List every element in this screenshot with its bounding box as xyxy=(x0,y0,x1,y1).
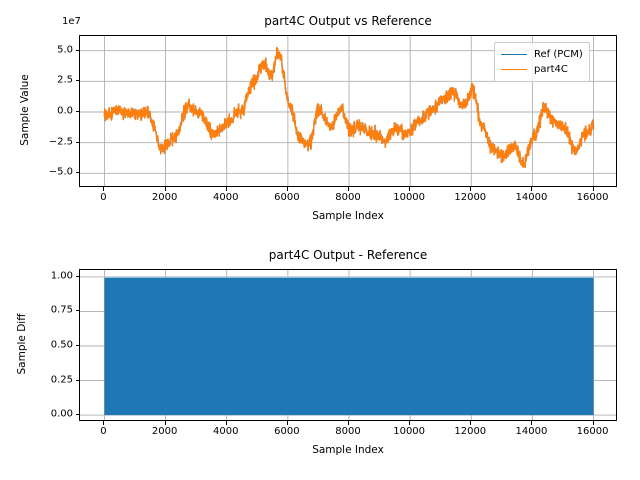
x-tick-label: 2000 xyxy=(152,426,177,437)
x-tick-mark xyxy=(409,187,410,191)
y-tick-label: −2.5 xyxy=(17,136,73,147)
bottom-x-axis-label: Sample Index xyxy=(79,444,617,456)
top-legend[interactable]: Ref (PCM) part4C xyxy=(494,42,590,82)
x-tick-label: 8000 xyxy=(335,192,360,203)
top-x-axis-label: Sample Index xyxy=(79,210,617,222)
x-tick-mark xyxy=(165,421,166,425)
x-tick-label: 6000 xyxy=(274,426,299,437)
y-tick-label: 1.00 xyxy=(17,270,73,281)
x-tick-label: 10000 xyxy=(393,192,425,203)
y-tick-label: 2.5 xyxy=(17,75,73,86)
x-tick-mark xyxy=(165,187,166,191)
x-tick-label: 14000 xyxy=(516,426,548,437)
y-tick-label: 5.0 xyxy=(17,44,73,55)
x-tick-mark xyxy=(409,421,410,425)
y-tick-mark xyxy=(76,142,80,143)
x-tick-label: 14000 xyxy=(516,192,548,203)
y-tick-label: 0.50 xyxy=(17,340,73,351)
legend-label-part4c: part4C xyxy=(534,65,568,75)
x-tick-mark xyxy=(287,187,288,191)
x-tick-mark xyxy=(103,421,104,425)
x-tick-mark xyxy=(226,187,227,191)
x-tick-mark xyxy=(531,421,532,425)
legend-label-ref: Ref (PCM) xyxy=(534,50,583,60)
top-chart-title: part4C Output vs Reference xyxy=(79,14,617,28)
x-tick-mark xyxy=(593,421,594,425)
x-tick-label: 4000 xyxy=(213,426,238,437)
bottom-plot-area[interactable] xyxy=(79,269,617,421)
bottom-chart-title: part4C Output - Reference xyxy=(79,248,617,262)
x-tick-mark xyxy=(593,187,594,191)
y-tick-label: −5.0 xyxy=(17,167,73,178)
legend-swatch-ref xyxy=(501,54,527,55)
y-tick-mark xyxy=(76,276,80,277)
x-tick-label: 0 xyxy=(100,426,106,437)
y-tick-label: 0.75 xyxy=(17,305,73,316)
x-tick-mark xyxy=(348,421,349,425)
legend-swatch-part4c xyxy=(501,69,527,70)
top-y-offset-text: 1e7 xyxy=(62,16,81,27)
x-tick-label: 2000 xyxy=(152,192,177,203)
x-tick-label: 4000 xyxy=(213,192,238,203)
y-tick-mark xyxy=(76,80,80,81)
legend-item-part4c[interactable]: part4C xyxy=(501,62,583,77)
x-tick-label: 6000 xyxy=(274,192,299,203)
y-tick-label: 0.00 xyxy=(17,409,73,420)
x-tick-mark xyxy=(531,187,532,191)
x-tick-mark xyxy=(103,187,104,191)
y-tick-label: 0.25 xyxy=(17,374,73,385)
x-tick-label: 12000 xyxy=(454,192,486,203)
matplotlib-figure: part4C Output vs Reference 1e7 Sample Va… xyxy=(0,0,640,480)
x-tick-label: 12000 xyxy=(454,426,486,437)
x-tick-label: 16000 xyxy=(577,426,609,437)
y-tick-mark xyxy=(76,345,80,346)
x-tick-label: 16000 xyxy=(577,192,609,203)
y-tick-mark xyxy=(76,380,80,381)
x-tick-mark xyxy=(470,421,471,425)
y-tick-mark xyxy=(76,310,80,311)
x-tick-label: 0 xyxy=(100,192,106,203)
y-tick-label: 0.0 xyxy=(17,106,73,117)
x-tick-mark xyxy=(287,421,288,425)
x-tick-mark xyxy=(470,187,471,191)
bottom-plot-svg xyxy=(80,270,617,421)
x-tick-mark xyxy=(348,187,349,191)
x-tick-mark xyxy=(226,421,227,425)
y-tick-mark xyxy=(76,414,80,415)
y-tick-mark xyxy=(76,111,80,112)
x-tick-label: 10000 xyxy=(393,426,425,437)
x-tick-label: 8000 xyxy=(335,426,360,437)
legend-item-ref[interactable]: Ref (PCM) xyxy=(501,47,583,62)
y-tick-mark xyxy=(76,50,80,51)
y-tick-mark xyxy=(76,172,80,173)
